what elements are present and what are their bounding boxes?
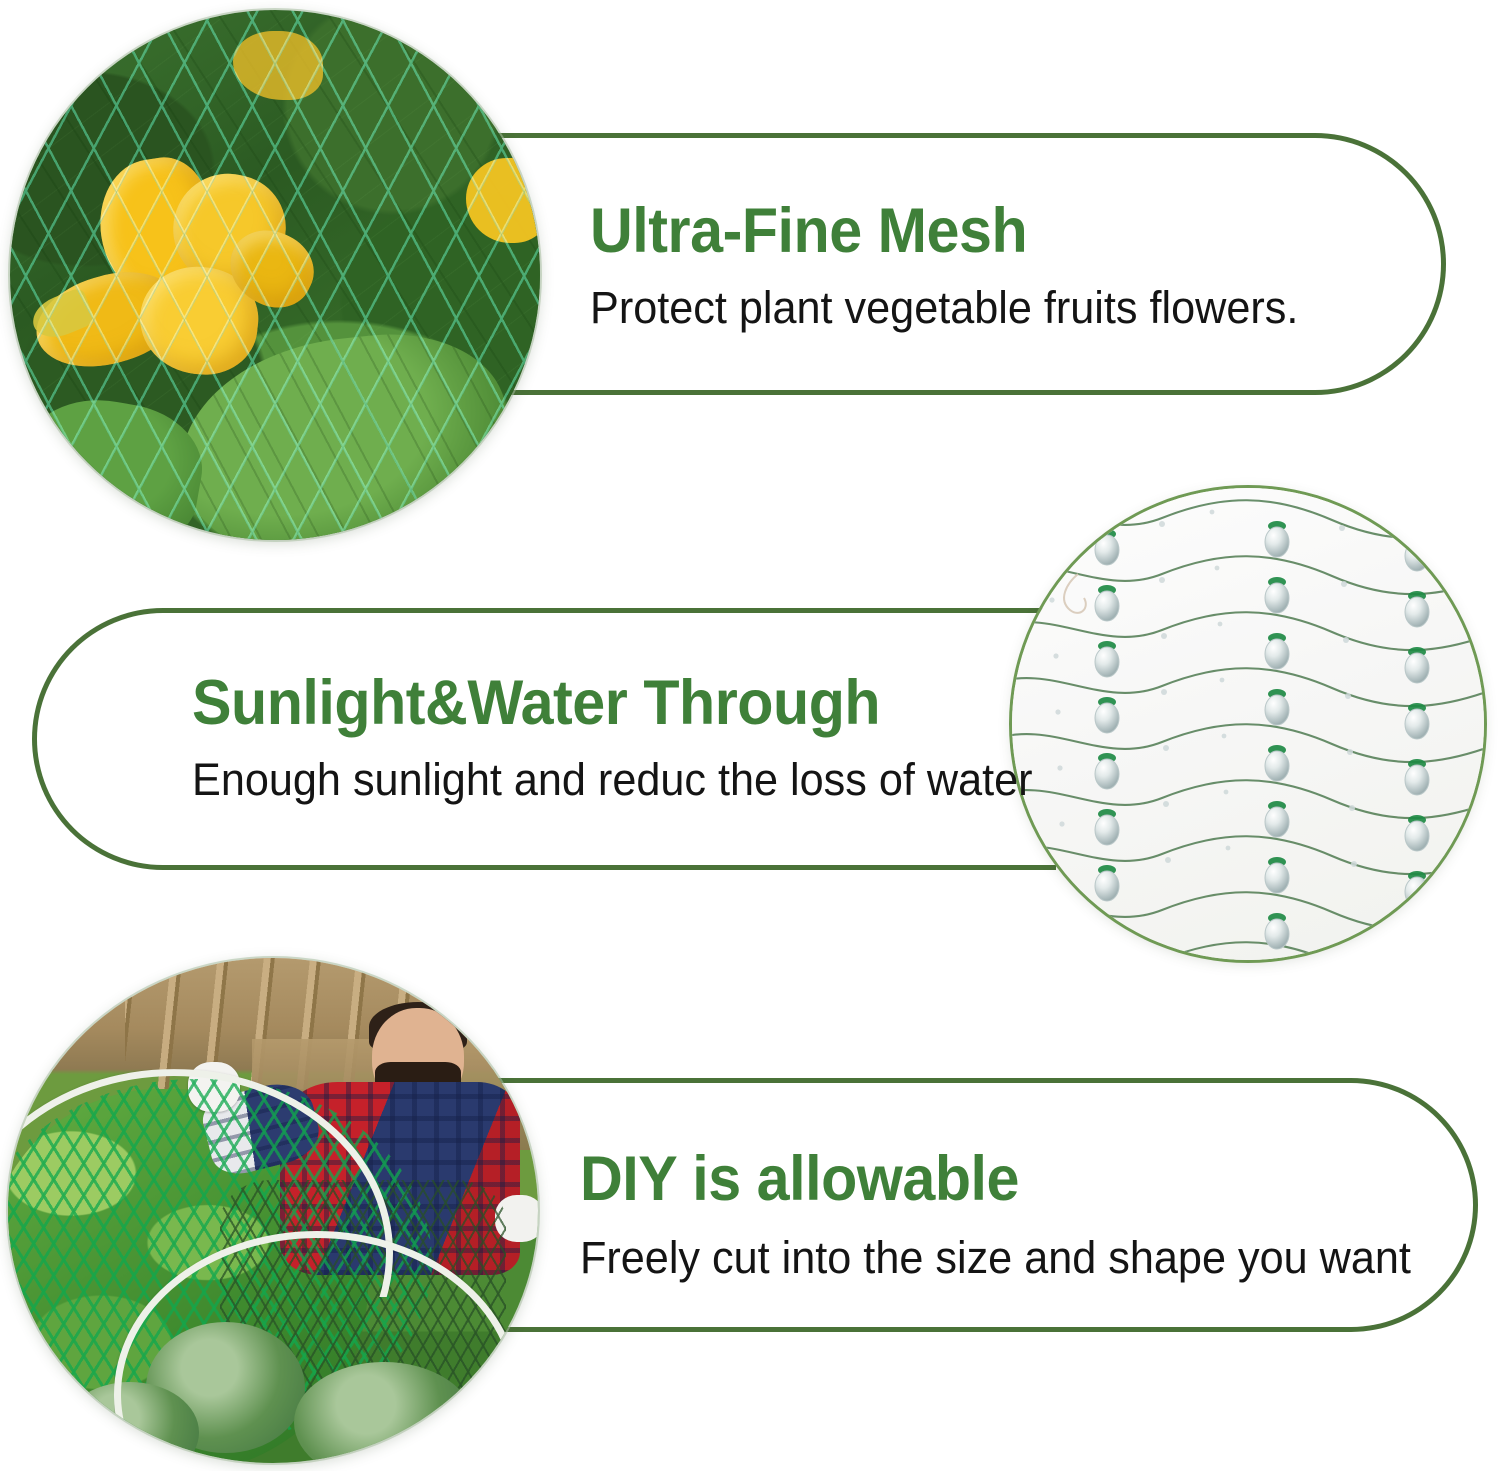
feature-text-diy-is-allowable: DIY is allowable Freely cut into the siz… xyxy=(580,1148,1446,1280)
gardener-installing-netting-photo xyxy=(8,958,538,1463)
feature-subtext-1: Protect plant vegetable fruits flowers. xyxy=(590,285,1298,330)
feature-headline-3: DIY is allowable xyxy=(580,1148,1394,1211)
feature-panel-stage: Ultra-Fine Mesh Protect plant vegetable … xyxy=(0,0,1500,1471)
feature-text-sunlight-water-through: Sunlight&Water Through Enough sunlight a… xyxy=(192,672,1068,802)
feature-image-diy-is-allowable xyxy=(8,958,538,1463)
feature-image-sunlight-water-through xyxy=(1012,488,1484,960)
feature-subtext-2: Enough sunlight and reduc the loss of wa… xyxy=(192,757,1033,802)
feature-headline-2: Sunlight&Water Through xyxy=(192,672,1015,735)
feature-subtext-3: Freely cut into the size and shape you w… xyxy=(580,1235,1411,1280)
feature-headline-1: Ultra-Fine Mesh xyxy=(590,200,1284,263)
feature-text-ultra-fine-mesh: Ultra-Fine Mesh Protect plant vegetable … xyxy=(590,200,1328,330)
mesh-water-droplet-photo xyxy=(1012,488,1484,960)
feature-image-ultra-fine-mesh xyxy=(10,10,540,540)
net-droplet-illustration xyxy=(1012,488,1484,960)
squash-flower-mesh-photo xyxy=(10,10,540,540)
